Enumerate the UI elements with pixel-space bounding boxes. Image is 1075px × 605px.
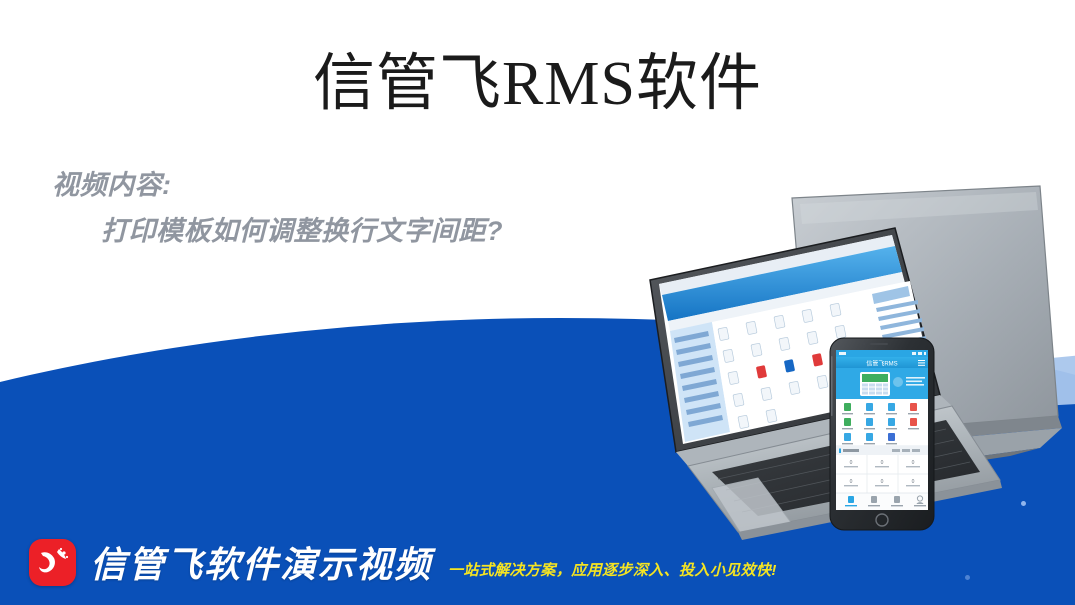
svg-text:0: 0 — [881, 460, 884, 466]
svg-text:0: 0 — [850, 460, 853, 466]
smartphone-mobile-app: 信管飞RMS — [830, 338, 934, 530]
video-content-label: 视频内容: — [52, 170, 172, 200]
svg-text:0: 0 — [850, 479, 853, 485]
bottom-banner: 信管飞软件演示视频 一站式解决方案，应用逐步深入、投入小见效快! — [0, 519, 1075, 605]
svg-text:0: 0 — [912, 460, 915, 466]
banner-tagline: 一站式解决方案，应用逐步深入、投入小见效快! — [448, 559, 777, 580]
device-illustration: 信管飞RMS — [440, 180, 1075, 540]
video-topic-text: 打印模板如何调整换行文字间距? — [52, 208, 503, 254]
phone-app-title: 信管飞RMS — [866, 360, 897, 368]
banner-title: 信管飞软件演示视频 — [90, 536, 432, 588]
xinguanfei-logo-icon — [29, 539, 76, 586]
svg-text:0: 0 — [912, 479, 915, 485]
decorative-dot — [1021, 501, 1026, 506]
phone-menu-icon — [918, 360, 925, 366]
video-content-block: 视频内容: 打印模板如何调整换行文字间距? — [52, 162, 503, 254]
presentation-slide: 信管飞RMS软件 视频内容: 打印模板如何调整换行文字间距? — [0, 0, 1075, 605]
page-title: 信管飞RMS软件 — [0, 47, 1075, 121]
svg-text:0: 0 — [881, 479, 884, 485]
